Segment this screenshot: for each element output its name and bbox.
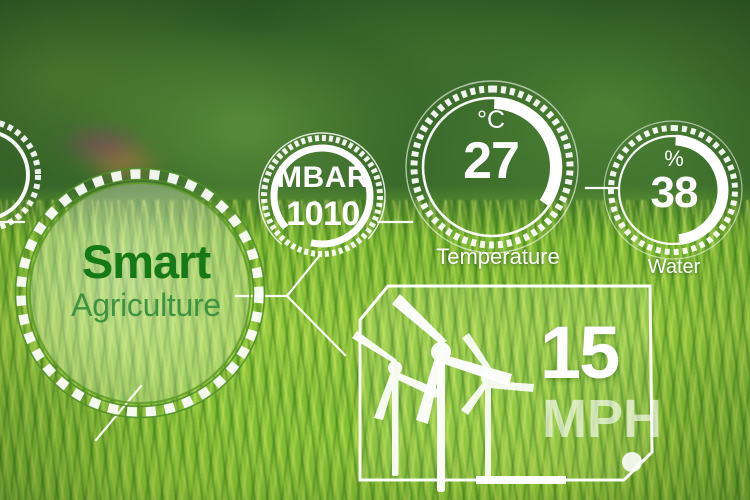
water-caption: Water: [628, 256, 720, 279]
wind-speed-unit: MPH: [542, 392, 662, 446]
temperature-caption: Temperature: [432, 244, 564, 270]
gauge-pressure-readout: MBAR 1010: [268, 163, 378, 231]
brand-line-2: Agriculture: [46, 289, 246, 321]
temperature-value: 27: [436, 135, 546, 187]
pressure-value: 1010: [268, 197, 378, 231]
wind-speed-value: 15: [540, 316, 618, 390]
panel-corner-dot: [622, 452, 642, 472]
water-value: 38: [630, 171, 718, 215]
brand-line-1: Smart: [46, 238, 246, 285]
brand-lockup: Smart Agriculture: [46, 238, 246, 321]
smart-agriculture-infographic: Smart Agriculture MBAR 1010 °C 27 Temper…: [0, 0, 750, 500]
water-unit: %: [630, 148, 718, 170]
gauge-water-readout: % 38: [630, 148, 718, 215]
gauge-partial-left: [0, 121, 38, 229]
gauge-temperature-readout: °C 27: [436, 108, 546, 187]
temperature-unit: °C: [436, 108, 546, 133]
pressure-unit: MBAR: [268, 163, 378, 193]
